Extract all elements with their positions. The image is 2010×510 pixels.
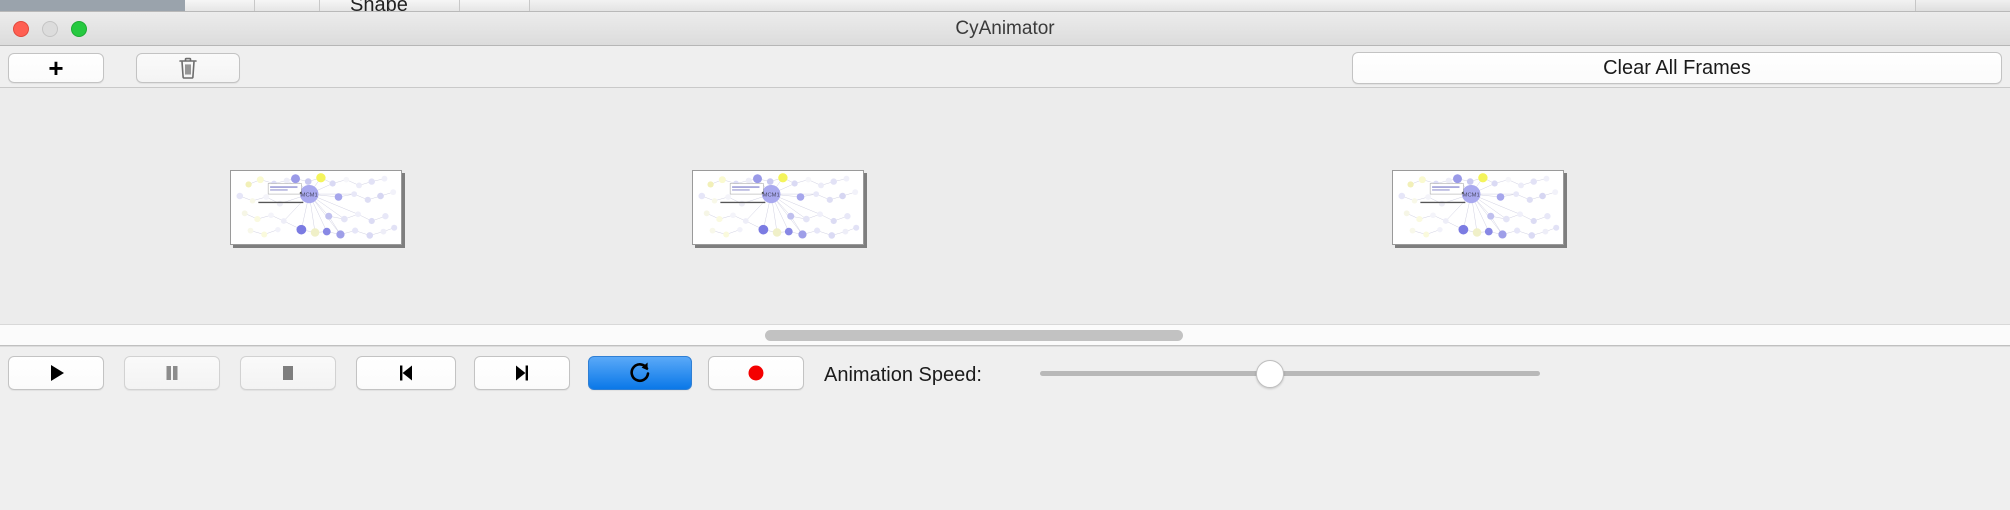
cyanimator-window: Shape CyAnimator + Clear All Frames MCM1…	[0, 0, 2010, 510]
stop-button[interactable]	[240, 356, 336, 390]
titlebar: CyAnimator	[0, 12, 2010, 46]
frame-thumbnail[interactable]: MCM1	[230, 170, 402, 245]
frame-thumbnail[interactable]: MCM1	[1392, 170, 1564, 245]
animation-speed-slider-track[interactable]	[1040, 371, 1540, 376]
delete-frame-button[interactable]	[136, 53, 240, 83]
clear-all-frames-button[interactable]: Clear All Frames	[1352, 52, 2002, 84]
loop-icon	[627, 360, 653, 386]
add-frame-button[interactable]: +	[8, 53, 104, 83]
toolbar: + Clear All Frames	[0, 46, 2010, 88]
timeline-scrollbar-thumb[interactable]	[765, 330, 1183, 341]
playback-controls: Animation Speed:	[0, 346, 2010, 510]
pause-icon	[160, 361, 184, 385]
pause-button[interactable]	[124, 356, 220, 390]
play-icon	[44, 361, 68, 385]
skip-previous-icon	[394, 361, 418, 385]
stop-icon	[276, 361, 300, 385]
plus-icon: +	[48, 55, 63, 81]
skip-next-icon	[510, 361, 534, 385]
skip-previous-button[interactable]	[356, 356, 456, 390]
timeline-panel[interactable]: MCM1MCM1MCM1 12131415161718 Seconds	[0, 88, 2010, 328]
skip-next-button[interactable]	[474, 356, 570, 390]
svg-text:MCM1: MCM1	[1463, 193, 1480, 199]
svg-text:MCM1: MCM1	[301, 193, 318, 199]
window-title: CyAnimator	[0, 12, 2010, 46]
animation-speed-slider-thumb[interactable]	[1256, 360, 1284, 388]
timeline-scrollbar-track[interactable]	[0, 324, 2010, 346]
svg-text:MCM1: MCM1	[763, 193, 780, 199]
clear-all-frames-label: Clear All Frames	[1603, 57, 1751, 80]
record-button[interactable]	[708, 356, 804, 390]
loop-button[interactable]	[588, 356, 692, 390]
animation-speed-label: Animation Speed:	[824, 364, 982, 387]
play-button[interactable]	[8, 356, 104, 390]
record-icon	[744, 361, 768, 385]
frame-thumbnail[interactable]: MCM1	[692, 170, 864, 245]
trash-icon	[178, 57, 198, 79]
